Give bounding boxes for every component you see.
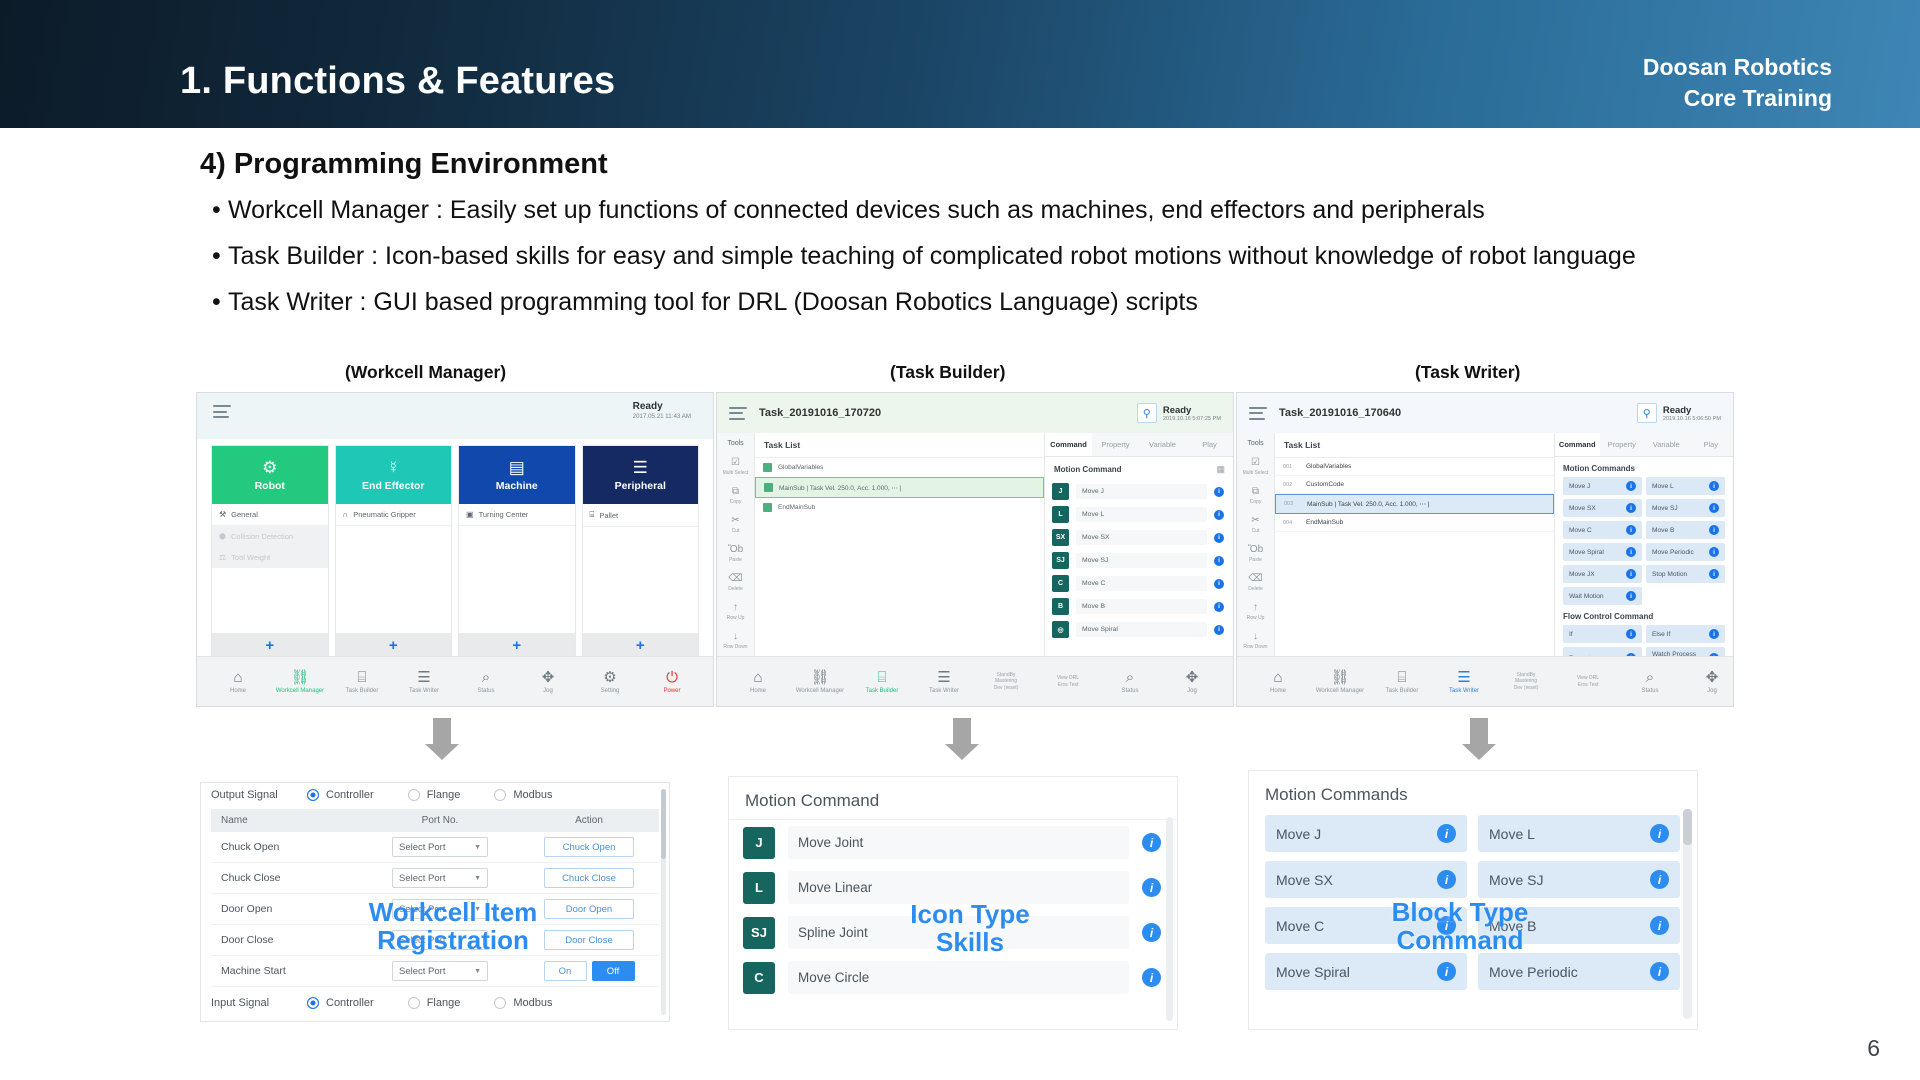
Workcell Manager-icon: ⛓ xyxy=(810,670,829,685)
port-value: Select Port xyxy=(399,842,445,853)
task-row[interactable]: 001GlobalVariables xyxy=(1275,458,1554,476)
nav-button-setting[interactable]: ⚙Setting xyxy=(1223,670,1234,694)
table-header: Name Port No. Action xyxy=(211,809,659,832)
hamburger-menu-icon[interactable] xyxy=(1249,407,1267,420)
task-row[interactable]: 004EndMainSub xyxy=(1275,514,1554,532)
tool-multi-select[interactable]: ☑Multi Select xyxy=(1237,452,1274,481)
Setting-icon: ⚙ xyxy=(603,670,616,685)
card-header[interactable]: ⚙Robot xyxy=(212,446,328,504)
tab-variable[interactable]: Variable xyxy=(1644,433,1689,456)
nav-label: Workcell Manager xyxy=(1316,688,1364,694)
info-icon[interactable]: i xyxy=(1650,916,1669,935)
command-cell[interactable]: Move SXi xyxy=(1265,861,1467,898)
Task Builder-icon: ⌸ xyxy=(877,670,886,685)
tool-paste[interactable]: ὌbPaste xyxy=(717,539,754,568)
command-cell[interactable]: Move Periodici xyxy=(1478,953,1680,990)
status-label: Ready xyxy=(633,401,691,412)
row-port: Select Port▼ xyxy=(361,837,519,857)
Task Builder-icon: ⌸ xyxy=(1397,670,1406,685)
builder-body: Tools☑Multi Select⧉Copy✂CutὌbPaste⌫Delet… xyxy=(717,433,1233,656)
Status-icon: ⌕ xyxy=(1646,670,1654,685)
motion-label: Move Circle xyxy=(788,961,1129,994)
workcell-topbar: Ready 2017.05.21 11:43 AM xyxy=(197,393,713,439)
command-cell[interactable]: Move Li xyxy=(1646,477,1725,495)
tab-command[interactable]: Command xyxy=(1045,433,1092,456)
move-l-icon: L xyxy=(743,872,775,904)
tool-paste[interactable]: ὌbPaste xyxy=(1237,539,1274,568)
move-l-icon: L xyxy=(1052,506,1069,523)
nav-button-jog[interactable]: ✥Jog xyxy=(1161,670,1223,694)
info-icon[interactable]: i xyxy=(1650,870,1669,889)
move-sj-icon: SJ xyxy=(1052,552,1069,569)
hamburger-menu-icon[interactable] xyxy=(213,405,231,418)
item-label: Collision Detection xyxy=(231,532,293,541)
workcell-bottom-nav: ⌂Home⛓Workcell Manager⌸Task Builder☰Task… xyxy=(197,656,713,706)
port-select[interactable]: Select Port▼ xyxy=(392,961,488,981)
nav-button-jog[interactable]: ✥Jog xyxy=(1681,670,1734,694)
tool-label: Cut xyxy=(732,528,740,534)
nav-button-task-builder[interactable]: ⌸Task Builder xyxy=(331,670,393,694)
nav-button-status[interactable]: ⌕Status xyxy=(1619,670,1681,694)
info-icon[interactable]: i xyxy=(1437,824,1456,843)
tool-row-up[interactable]: ↑Row Up xyxy=(717,597,754,626)
command-row[interactable]: SJMove SJi xyxy=(1045,549,1233,572)
grid-view-icon[interactable]: ▦ xyxy=(1216,464,1224,475)
command-cell[interactable]: Move Periodici xyxy=(1646,543,1725,561)
info-icon[interactable]: i xyxy=(1437,870,1456,889)
slide-root: 1. Functions & Features Doosan Robotics … xyxy=(0,0,1920,1080)
info-icon[interactable]: i xyxy=(1214,579,1224,589)
card-header[interactable]: ☿End Effector xyxy=(336,446,452,504)
item-icon: ⌸ xyxy=(590,510,595,520)
tool-label: Row Down xyxy=(723,644,747,650)
table-row: Chuck OpenSelect Port▼Chuck Open xyxy=(211,832,659,863)
card-header[interactable]: ▤Machine xyxy=(459,446,575,504)
annotation-line: Registration xyxy=(348,926,558,954)
nav-button-workcell-manager[interactable]: ⛓Workcell Manager xyxy=(1309,670,1371,694)
info-icon[interactable]: i xyxy=(1709,503,1719,513)
table-row: Chuck CloseSelect Port▼Chuck Close xyxy=(211,863,659,894)
nav-button-home[interactable]: ⌂Home xyxy=(1247,670,1309,694)
info-icon[interactable]: i xyxy=(1142,833,1161,852)
radio-label: Controller xyxy=(326,789,374,801)
scrollbar[interactable] xyxy=(1166,817,1173,1021)
move-b-icon: B xyxy=(1052,598,1069,615)
command-label: Move L xyxy=(1076,507,1207,522)
command-label: Wait Motion xyxy=(1569,593,1626,600)
tool-copy[interactable]: ⧉Copy xyxy=(717,481,754,510)
row-down-icon: ↓ xyxy=(733,631,738,642)
command-label: Move J xyxy=(1276,826,1437,842)
page-number: 6 xyxy=(1867,1035,1880,1062)
command-label: Move B xyxy=(1076,599,1207,614)
item-icon: ▣ xyxy=(466,510,474,519)
radio-controller-input[interactable]: Controller xyxy=(307,997,374,1009)
command-cell[interactable]: Move Spirali xyxy=(1563,543,1642,561)
port-select[interactable]: Select Port▼ xyxy=(392,837,488,857)
bullet-text: Task Writer : GUI based programming tool… xyxy=(228,288,1198,316)
tool-label: Row Down xyxy=(1243,644,1267,650)
tab-property[interactable]: Property xyxy=(1600,433,1645,456)
toggle-on-button[interactable]: On xyxy=(544,961,587,981)
command-cell[interactable]: Move SJi xyxy=(1478,861,1680,898)
tool-delete[interactable]: ⌫Delete xyxy=(717,568,754,597)
nav-right-group: ⌕Status✥Jog⚙Setting⏻Power xyxy=(1099,670,1234,694)
info-icon[interactable]: i xyxy=(1437,962,1456,981)
command-label: Move Spiral xyxy=(1569,549,1626,556)
nav-button-home[interactable]: ⌂Home xyxy=(207,670,269,694)
nav-button-task-writer[interactable]: ☰Task Writer xyxy=(393,670,455,694)
task-row[interactable]: 003MainSub | Task Vel. 250.0, Acc. 1.000… xyxy=(1275,494,1554,514)
radio-dot xyxy=(494,789,506,801)
info-icon[interactable]: i xyxy=(1626,525,1636,535)
workcell-manager-screenshot: Ready 2017.05.21 11:43 AM ⚙Robot⚒General… xyxy=(196,392,714,707)
tool-label: Multi Select xyxy=(723,470,749,476)
command-label: Move Periodic xyxy=(1652,549,1709,556)
radio-dot xyxy=(494,997,506,1009)
delete-icon: ⌫ xyxy=(728,573,742,584)
info-icon[interactable]: i xyxy=(1626,481,1636,491)
tool-cut[interactable]: ✂Cut xyxy=(717,510,754,539)
paste-icon: Ὄb xyxy=(728,544,743,555)
column-action: Action xyxy=(519,815,659,826)
status-badge: ⚲ Ready 2019.10.16 5:07:25 PM xyxy=(1137,403,1221,423)
item-icon: ⚒ xyxy=(219,510,226,519)
command-label: Move L xyxy=(1652,483,1709,490)
nav-label: Task Builder xyxy=(346,688,379,694)
command-cell[interactable]: Move Ci xyxy=(1563,521,1642,539)
info-icon[interactable]: i xyxy=(1709,569,1719,579)
item-label: Turning Center xyxy=(479,510,529,519)
command-label: Move B xyxy=(1652,527,1709,534)
command-row[interactable]: ◎Move Spirali xyxy=(1045,618,1233,641)
tool-label: Paste xyxy=(1249,557,1262,563)
info-icon[interactable]: i xyxy=(1214,510,1224,520)
nav-button-setting[interactable]: ⚙Setting xyxy=(579,670,641,694)
detail-title: Motion Command xyxy=(729,777,1177,820)
task-row-text: GlobalVariables xyxy=(778,464,823,471)
radio-label: Modbus xyxy=(513,997,552,1009)
nav-left-group: ⌂Home⛓Workcell Manager⌸Task Builder☰Task… xyxy=(197,670,455,694)
tab-variable[interactable]: Variable xyxy=(1139,433,1186,456)
card-title: End Effector xyxy=(362,480,424,492)
task-row[interactable]: EndMainSub xyxy=(755,498,1044,517)
command-label: Move SJ xyxy=(1076,553,1207,568)
command-row[interactable]: JMove Ji xyxy=(1045,480,1233,503)
radio-dot xyxy=(307,789,319,801)
nav-label: Home xyxy=(1270,688,1286,694)
command-row[interactable]: LMove Li xyxy=(1045,503,1233,526)
list-item[interactable]: ▣Turning Center xyxy=(459,504,575,526)
nav-label: Workcell Manager xyxy=(796,688,844,694)
tool-label: Copy xyxy=(730,499,742,505)
nav-label: Home xyxy=(230,688,246,694)
item-icon: ⬢ xyxy=(219,532,226,541)
info-icon[interactable]: i xyxy=(1214,487,1224,497)
task-row[interactable]: MainSub | Task Vel. 250.0, Acc. 1.000, ⋯… xyxy=(755,477,1044,498)
builder-bottom-nav: ⌂Home⛓Workcell Manager⌸Task Builder☰Task… xyxy=(717,656,1233,706)
row-up-icon: ↑ xyxy=(733,602,738,613)
nav-label: Status xyxy=(477,688,494,694)
workcell-card-row: ⚙Robot⚒General⬢Collision Detection⚖Tool … xyxy=(211,445,699,658)
tool-cut[interactable]: ✂Cut xyxy=(1237,510,1274,539)
nav-label: Power xyxy=(663,688,680,694)
nav-button-task-writer[interactable]: ☰Task Writer xyxy=(913,670,975,694)
info-icon[interactable]: i xyxy=(1626,629,1636,639)
bullet-dot: • xyxy=(212,244,228,269)
nav-button-status[interactable]: ⌕Status xyxy=(1099,670,1161,694)
command-cell[interactable]: Move Ji xyxy=(1563,477,1642,495)
Task Writer-icon: ☰ xyxy=(937,670,950,685)
task-title: Task_20191016_170640 xyxy=(1279,407,1401,419)
info-icon[interactable]: i xyxy=(1626,503,1636,513)
command-cell[interactable]: Move Ji xyxy=(1265,815,1467,852)
nav-button-status[interactable]: ⌕Status xyxy=(455,670,517,694)
nav-button-info[interactable]: View DRLEros Text xyxy=(1037,670,1099,694)
list-item[interactable]: ⌸Pallet xyxy=(583,504,699,527)
tools-header: Tools xyxy=(717,437,754,452)
port-value: Select Port xyxy=(399,873,445,884)
nav-label: Setting xyxy=(601,688,620,694)
task-block-icon xyxy=(763,463,772,472)
nav-button-workcell-manager[interactable]: ⛓Workcell Manager xyxy=(789,670,851,694)
info-icon[interactable]: i xyxy=(1214,625,1224,635)
nav-label: Jog xyxy=(1187,688,1197,694)
tab-property[interactable]: Property xyxy=(1092,433,1139,456)
list-item[interactable]: ⚒General xyxy=(212,504,328,526)
motion-command-header: Motion Command ▦ xyxy=(1045,457,1233,480)
tab-play[interactable]: Play xyxy=(1186,433,1233,456)
scrollbar[interactable] xyxy=(1683,809,1692,1019)
command-cell[interactable]: Move Li xyxy=(1478,815,1680,852)
tool-label: Row Up xyxy=(727,615,745,621)
task-block-icon xyxy=(764,483,773,492)
tool-label: Row Up xyxy=(1247,615,1265,621)
info-icon[interactable]: i xyxy=(1626,591,1636,601)
card-header[interactable]: ☰Peripheral xyxy=(583,446,699,504)
down-arrow-icon xyxy=(425,718,459,760)
info-icon[interactable]: i xyxy=(1650,824,1669,843)
tool-row-up[interactable]: ↑Row Up xyxy=(1237,597,1274,626)
cut-icon: ✂ xyxy=(1251,515,1259,526)
radio-modbus-input[interactable]: Modbus xyxy=(494,997,552,1009)
radio-dot xyxy=(408,997,420,1009)
info-icon[interactable]: i xyxy=(1214,602,1224,612)
status-label: Ready xyxy=(1163,405,1221,416)
command-label: Move J xyxy=(1569,483,1626,490)
info-icon[interactable]: i xyxy=(1709,629,1719,639)
command-row[interactable]: BMove Bi xyxy=(1045,595,1233,618)
Jog-icon: ✥ xyxy=(1706,670,1719,685)
column-name: Name xyxy=(211,815,361,826)
Task Writer-icon: ☰ xyxy=(417,670,430,685)
motion-commands-header: Motion Commands xyxy=(1555,457,1733,477)
Status-icon: ⌕ xyxy=(482,670,490,685)
task-rows: 001GlobalVariables002CustomCode003MainSu… xyxy=(1275,458,1554,532)
info-icon[interactable]: i xyxy=(1142,923,1161,942)
annotation-line: Block Type xyxy=(1355,898,1565,926)
command-label: Move SX xyxy=(1076,530,1207,545)
section-title: 4) Programming Environment xyxy=(200,148,608,181)
command-cell[interactable]: Move SXi xyxy=(1563,499,1642,517)
tab-command[interactable]: Command xyxy=(1555,433,1600,456)
writer-motion-grid: Move JiMove LiMove SXiMove SJiMove CiMov… xyxy=(1555,477,1733,605)
tool-label: Delete xyxy=(1248,586,1262,592)
move-j-icon: J xyxy=(743,827,775,859)
tool-row-down[interactable]: ↓Row Down xyxy=(1237,626,1274,655)
add-button[interactable]: + xyxy=(212,633,328,657)
nav-button-task-builder[interactable]: ⌸Task Builder xyxy=(851,670,913,694)
info-icon[interactable]: i xyxy=(1650,962,1669,981)
task-row-text: EndMainSub xyxy=(1306,519,1343,526)
tool-delete[interactable]: ⌫Delete xyxy=(1237,568,1274,597)
section-title-text: Motion Command xyxy=(1054,465,1122,474)
item-icon: ⚖ xyxy=(219,553,226,562)
task-block-icon xyxy=(763,503,772,512)
row-name: Door Close xyxy=(211,934,361,946)
paste-icon: Ὄb xyxy=(1248,544,1263,555)
task-row[interactable]: 002CustomCode xyxy=(1275,476,1554,494)
info-icon[interactable]: i xyxy=(1214,533,1224,543)
command-cell[interactable]: Stop Motioni xyxy=(1646,565,1725,583)
nav-button-workcell-manager[interactable]: ⛓Workcell Manager xyxy=(269,670,331,694)
nav-button-power[interactable]: ⏻Power xyxy=(641,670,703,694)
tool-copy[interactable]: ⧉Copy xyxy=(1237,481,1274,510)
builder-command-panel: CommandPropertyVariablePlay Motion Comma… xyxy=(1045,433,1233,656)
tab-play[interactable]: Play xyxy=(1689,433,1734,456)
tool-multi-select[interactable]: ☑Multi Select xyxy=(717,452,754,481)
list-item: •Task Builder : Icon-based skills for ea… xyxy=(212,244,1912,269)
bullet-list: •Workcell Manager : Easily set up functi… xyxy=(212,198,1912,336)
writer-task-list: Task List 001GlobalVariables002CustomCod… xyxy=(1275,433,1555,656)
task-writer-screenshot: Task_20191016_170640 ⚲ Ready 2019.10.16 … xyxy=(1236,392,1734,707)
info-icon[interactable]: i xyxy=(1142,878,1161,897)
tool-label: Delete xyxy=(728,586,742,592)
nav-sub-text: View DRLEros Text xyxy=(1057,675,1079,688)
chevron-down-icon: ▼ xyxy=(474,968,481,975)
list-item[interactable]: ∩Pneumatic Gripper xyxy=(336,504,452,526)
task-rows: GlobalVariablesMainSub | Task Vel. 250.0… xyxy=(755,458,1044,517)
command-row[interactable]: CMove Ci xyxy=(1045,572,1233,595)
nav-button-home[interactable]: ⌂Home xyxy=(727,670,789,694)
card-body: ▣Turning Center xyxy=(459,504,575,633)
action-button[interactable]: Chuck Open xyxy=(544,837,634,857)
nav-button-info[interactable]: StandByMasteringDev (reset) xyxy=(975,670,1037,694)
Jog-icon: ✥ xyxy=(542,670,555,685)
list-item[interactable]: ⬢Collision Detection xyxy=(212,526,328,547)
peripheral-icon: ☰ xyxy=(633,459,648,476)
nav-button-info[interactable]: View DRLEros Text xyxy=(1557,670,1619,694)
nav-label: Jog xyxy=(543,688,553,694)
info-icon[interactable]: i xyxy=(1142,968,1161,987)
row-number: 004 xyxy=(1283,520,1297,526)
add-button[interactable]: + xyxy=(459,633,575,657)
annotation-line: Workcell Item xyxy=(348,898,558,926)
info-icon[interactable]: i xyxy=(1709,481,1719,491)
robot-status-icon: ⚲ xyxy=(1637,403,1657,423)
card-body: ∩Pneumatic Gripper xyxy=(336,504,452,633)
nav-right-group: ⌕Status✥Jog⚙Setting⏻Power xyxy=(455,670,713,694)
info-icon[interactable]: i xyxy=(1626,547,1636,557)
tool-row-down[interactable]: ↓Row Down xyxy=(717,626,754,655)
action-button[interactable]: Chuck Close xyxy=(544,868,634,888)
writer-body: Tools☑Multi Select⧉Copy✂CutὌbPaste⌫Delet… xyxy=(1237,433,1733,656)
row-number: 001 xyxy=(1283,464,1297,470)
tool-label: Paste xyxy=(729,557,742,563)
move-c-icon: C xyxy=(743,962,775,994)
row-action: Chuck Open xyxy=(519,837,659,857)
motion-row[interactable]: JMove Jointi xyxy=(729,820,1177,865)
row-number: 002 xyxy=(1283,482,1297,488)
command-row[interactable]: SXMove SXi xyxy=(1045,526,1233,549)
caption-task-builder: (Task Builder) xyxy=(890,362,1005,383)
command-cell[interactable]: Else Ifi xyxy=(1646,625,1725,643)
info-icon[interactable]: i xyxy=(1709,525,1719,535)
annotation-workcell-item-registration: Workcell ItemRegistration xyxy=(348,898,558,954)
toggle-off-button[interactable]: Off xyxy=(592,961,635,981)
command-cell[interactable]: Move Spirali xyxy=(1265,953,1467,990)
radio-flange-input[interactable]: Flange xyxy=(408,997,461,1009)
command-cell[interactable]: Wait Motioni xyxy=(1563,587,1642,605)
radio-modbus-output[interactable]: Modbus xyxy=(494,789,552,801)
annotation-block-type-command: Block TypeCommand xyxy=(1355,898,1565,954)
add-button[interactable]: + xyxy=(583,633,699,657)
command-label: Stop Motion xyxy=(1652,571,1709,578)
annotation-line: Skills xyxy=(880,928,1060,956)
command-cell[interactable]: Move Bi xyxy=(1646,521,1725,539)
task-row-text: CustomCode xyxy=(1306,481,1344,488)
info-icon[interactable]: i xyxy=(1709,547,1719,557)
info-icon[interactable]: i xyxy=(1214,556,1224,566)
list-item[interactable]: ⚖Tool Weight xyxy=(212,547,328,568)
nav-label: Task Builder xyxy=(866,688,899,694)
nav-button-jog[interactable]: ✥Jog xyxy=(517,670,579,694)
table-row: Machine StartSelect Port▼OnOff xyxy=(211,956,659,987)
brand-line-2: Core Training xyxy=(1643,83,1832,114)
command-label: Move J xyxy=(1076,484,1207,499)
item-label: Tool Weight xyxy=(231,553,270,562)
task-row[interactable]: GlobalVariables xyxy=(755,458,1044,477)
radio-flange-output[interactable]: Flange xyxy=(408,789,461,801)
Status-icon: ⌕ xyxy=(1126,670,1134,685)
port-select[interactable]: Select Port▼ xyxy=(392,868,488,888)
chevron-down-icon: ▼ xyxy=(474,875,481,882)
row-action: Chuck Close xyxy=(519,868,659,888)
nav-button-task-builder[interactable]: ⌸Task Builder xyxy=(1371,670,1433,694)
nav-sub-text: StandByMasteringDev (reset) xyxy=(1514,672,1539,691)
info-icon[interactable]: i xyxy=(1626,569,1636,579)
command-cell[interactable]: Move JXi xyxy=(1563,565,1642,583)
nav-button-info[interactable]: StandByMasteringDev (reset) xyxy=(1495,670,1557,694)
builder-tabs: CommandPropertyVariablePlay xyxy=(1045,433,1233,457)
command-cell[interactable]: Ifi xyxy=(1563,625,1642,643)
nav-button-task-writer[interactable]: ☰Task Writer xyxy=(1433,670,1495,694)
input-signal-row: Input Signal Controller Flange Modbus xyxy=(201,991,669,1015)
command-label: Move SJ xyxy=(1489,872,1650,888)
command-cell[interactable]: Move SJi xyxy=(1646,499,1725,517)
bullet-text: Task Builder : Icon-based skills for eas… xyxy=(228,242,1636,270)
machine-icon: ▤ xyxy=(509,459,525,476)
radio-label: Modbus xyxy=(513,789,552,801)
scrollbar[interactable] xyxy=(661,789,666,1015)
hamburger-menu-icon[interactable] xyxy=(729,407,747,420)
radio-controller-output[interactable]: Controller xyxy=(307,789,374,801)
motion-row[interactable]: CMove Circlei xyxy=(729,955,1177,1000)
Home-icon: ⌂ xyxy=(753,670,762,685)
row-name: Chuck Close xyxy=(211,872,361,884)
add-button[interactable]: + xyxy=(336,633,452,657)
detail-title: Motion Commands xyxy=(1249,771,1697,815)
